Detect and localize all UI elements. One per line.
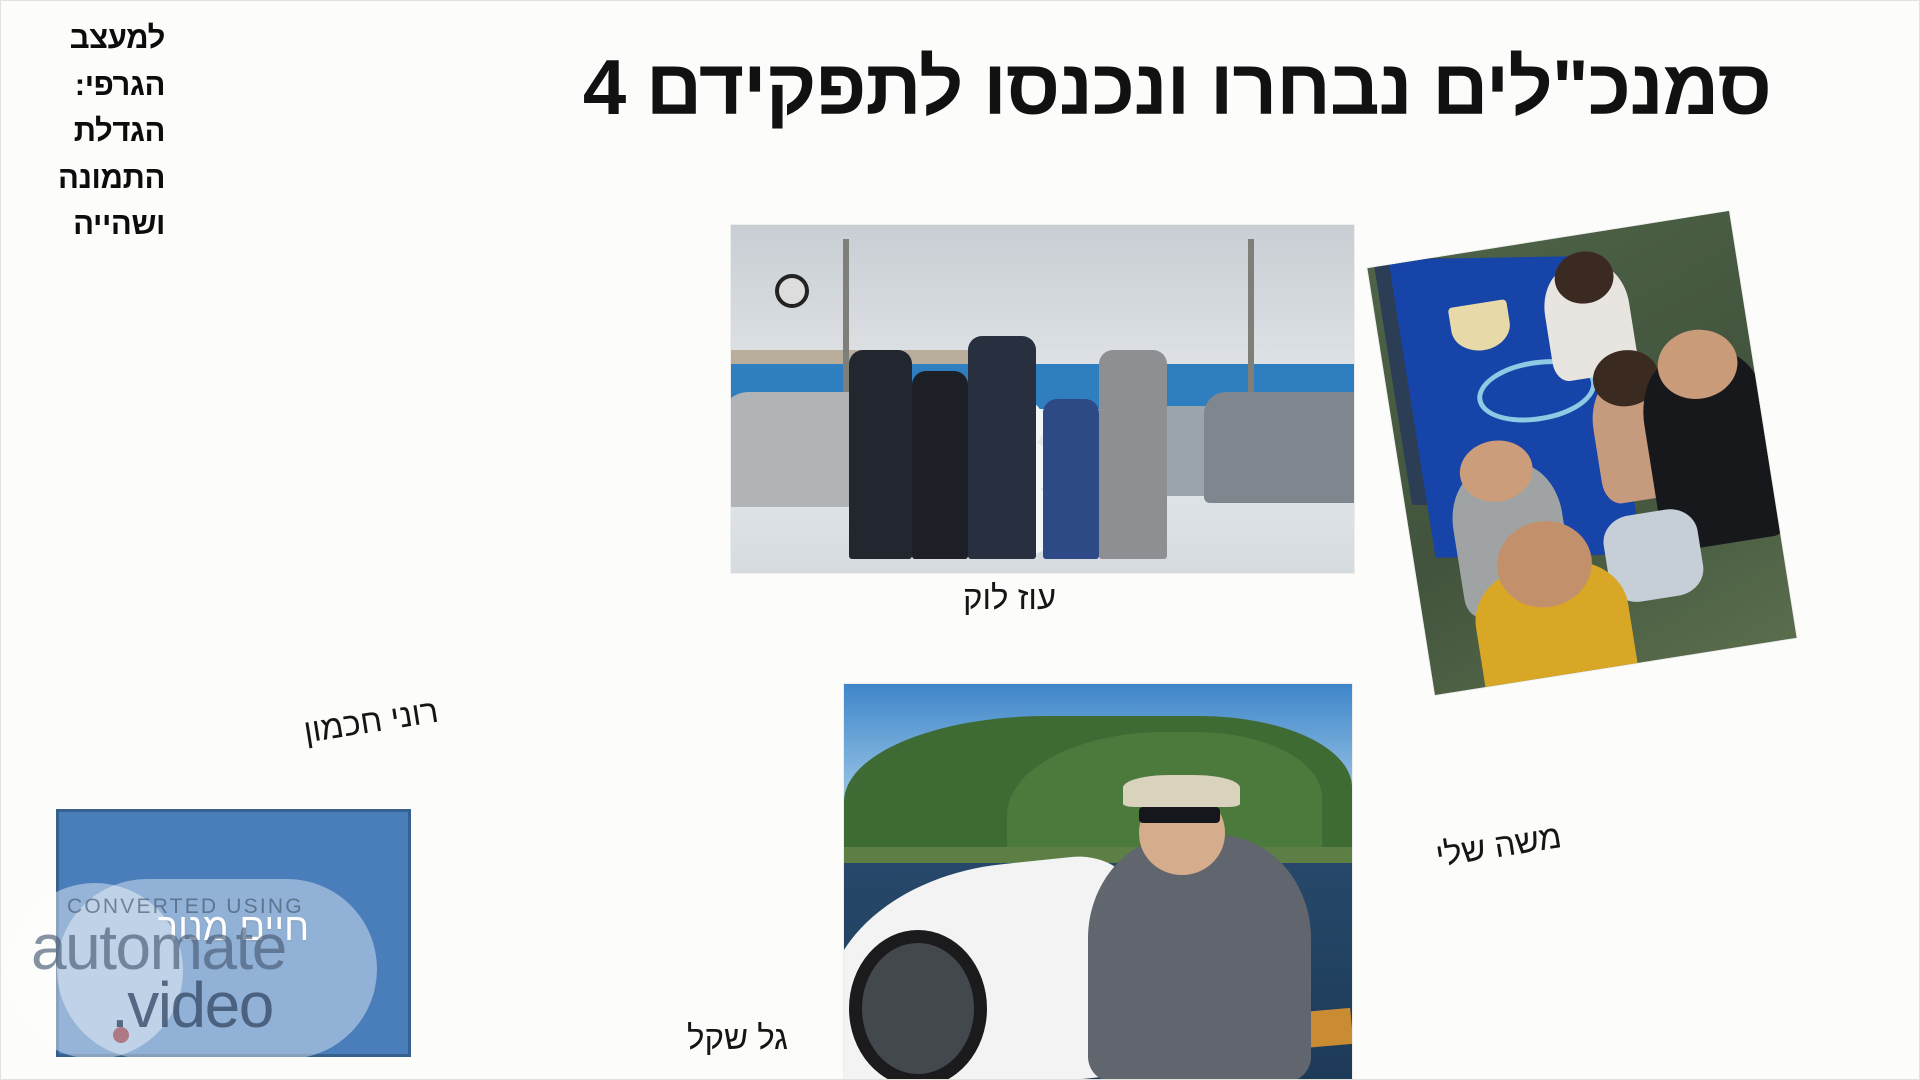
side-note-line-2: הגרפי: [0, 62, 165, 109]
side-note-line-4: התמונה [0, 155, 165, 202]
person-figure [1088, 835, 1312, 1080]
grey-car-shape [1204, 392, 1354, 503]
utility-pole-icon [1248, 239, 1254, 399]
caption-roni-hakmon: רוני חכמון [301, 692, 441, 751]
side-note-line-1: למעצב [0, 15, 165, 62]
person-figure [849, 350, 911, 559]
presentation-slide: למעצב הגרפי: הגדלת התמונה ושהייה סמנכ"לי… [0, 0, 1920, 1080]
caption-oz-luk: עוז לוק [963, 579, 1056, 617]
person-figure [912, 371, 968, 559]
snowman-family-photo[interactable] [731, 225, 1354, 573]
sun-hat-shape [1123, 775, 1240, 807]
blue-placeholder-box[interactable]: חיים מנור [56, 809, 411, 1057]
person-figure [968, 336, 1037, 559]
utility-pole-icon [843, 239, 849, 399]
placeholder-label-haim-manor: חיים מנור [59, 907, 408, 950]
person-figure [1043, 399, 1099, 559]
steering-wheel-icon [849, 930, 987, 1080]
designer-side-note: למעצב הגרפי: הגדלת התמונה ושהייה [0, 15, 165, 248]
caption-gal-shekel: גל שקל [687, 1019, 788, 1057]
caption-moshe-sheli: משה שלי [1433, 817, 1564, 874]
side-note-line-5: ושהייה [0, 201, 165, 248]
slide-title: סמנכ"לים נבחרו ונכנסו לתפקידם 4 [151, 47, 1771, 129]
motorboat-photo[interactable] [844, 684, 1352, 1080]
sunglasses-icon [1139, 807, 1220, 823]
gondola-family-photo[interactable] [1367, 211, 1796, 695]
no-entry-sign-icon [775, 274, 809, 308]
person-figure [1099, 350, 1168, 559]
side-note-line-3: הגדלת [0, 108, 165, 155]
